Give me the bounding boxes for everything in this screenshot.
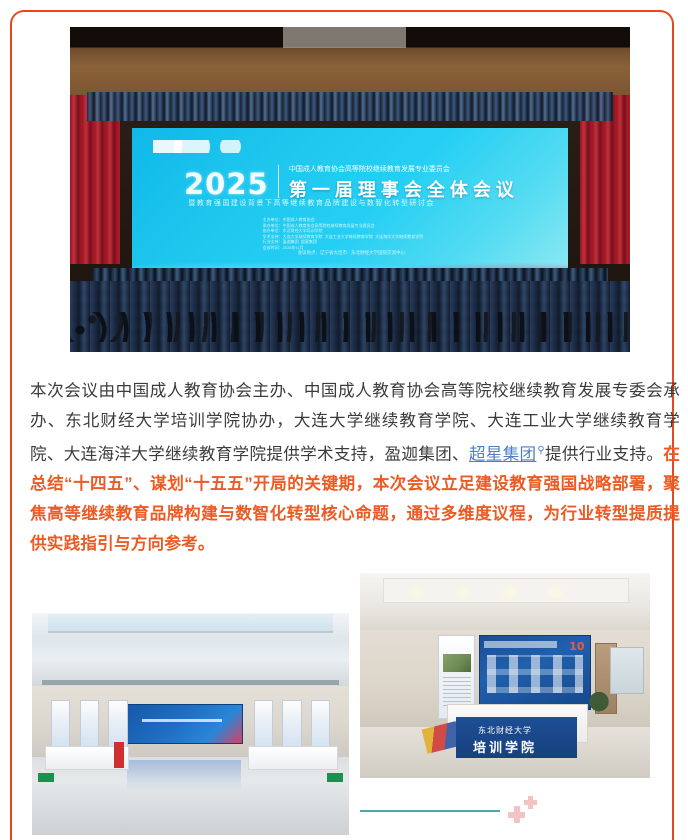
backdrop-photo-grid: [487, 655, 584, 693]
hero-ceiling: [70, 27, 630, 99]
hall-exhibit-table: [248, 746, 339, 770]
paragraph-segment-2: 提供行业支持。: [545, 444, 663, 463]
ceiling-spotlight-icon: [459, 589, 468, 596]
audience-heads: [70, 312, 630, 342]
article-card: 2025 中国成人教育协会高等院校继续教育发展专业委员会 第一届理事会全体会议 …: [10, 10, 674, 840]
led-year-label: 2025: [184, 167, 269, 201]
hall-rollup-banner: [80, 700, 99, 753]
rollup-text-lines: [443, 677, 471, 707]
led-subtitle-top: 中国成人教育协会高等院校继续教育发展专业委员会: [289, 164, 450, 174]
lighting-truss: [87, 92, 613, 121]
backdrop-title-bar: [484, 641, 557, 648]
ceiling-spotlight-icon: [551, 589, 560, 596]
exit-sign-icon: [38, 773, 54, 782]
hall-rollup-banner: [51, 700, 70, 753]
table-skirt-line-2: 培训学院: [473, 737, 537, 756]
plus-sparkle-icon-small: [524, 796, 537, 809]
photo-registration-desk: 10 东北财经大学 培训学院: [360, 573, 650, 778]
led-tagline: 暨教育强国建设背景下高等继续教育品牌建设与数智化转型研讨会: [188, 198, 435, 208]
exit-sign-icon: [327, 773, 343, 782]
lobby-ceiling: [360, 573, 650, 630]
hall-rollup-banner: [254, 700, 273, 753]
hall-skylight: [48, 614, 333, 632]
photo-exhibition-hall: [32, 613, 349, 835]
hall-ceiling-beam: [42, 680, 340, 686]
rollup-photo: [443, 654, 471, 672]
hall-display-screen: [127, 704, 243, 744]
article-paragraph: 本次会议由中国成人教育协会主办、中国成人教育协会高等院校继续教育发展专委会承办、…: [30, 376, 680, 560]
hall-rollup-banner: [282, 700, 301, 753]
led-partner-logos: [153, 140, 302, 153]
search-icon[interactable]: ⚲: [537, 445, 545, 456]
ceiling-spotlight-icon: [412, 589, 421, 596]
audience-seating: [70, 281, 630, 353]
backdrop-badge: 10: [569, 640, 584, 653]
hall-ceiling: [32, 613, 349, 686]
table-skirt-line-1: 东北财经大学: [478, 725, 532, 736]
hall-red-standee: [114, 742, 124, 769]
lobby-window: [610, 647, 644, 694]
led-stage-screen: 2025 中国成人教育协会高等院校继续教育发展专业委员会 第一届理事会全体会议 …: [132, 128, 569, 278]
hero-photo-conference-hall: 2025 中国成人教育协会高等院校继续教育发展专业委员会 第一届理事会全体会议 …: [70, 27, 630, 352]
chaoxing-group-link[interactable]: 超星集团: [469, 444, 537, 463]
lobby-plant: [589, 692, 609, 717]
footer-decoration: [360, 796, 550, 826]
hall-rollup-banner: [311, 700, 330, 753]
ceiling-spotlight-icon: [505, 589, 514, 596]
decorative-line: [360, 810, 500, 812]
plus-sparkle-icon: [508, 806, 525, 823]
hall-floor-reflection: [127, 760, 241, 791]
led-divider: [278, 165, 279, 198]
exhibit-backdrop-board: 10: [479, 635, 591, 711]
